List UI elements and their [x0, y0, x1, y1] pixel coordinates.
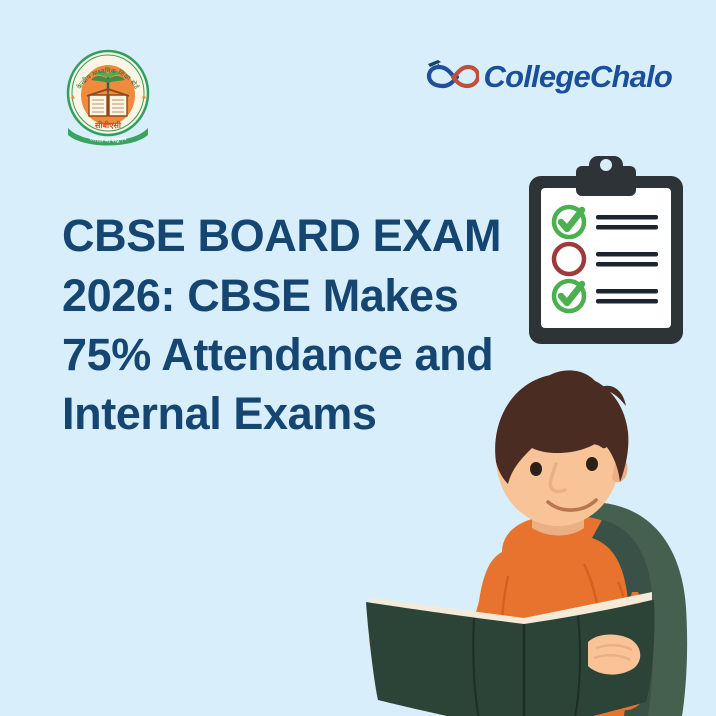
brand-name: CollegeChalo [484, 61, 672, 92]
svg-text:✷: ✷ [70, 94, 76, 102]
headline-line-2: 2026: CBSE Makes [62, 266, 532, 325]
collegechalo-logo[interactable]: CollegeChalo [423, 56, 672, 96]
cbse-emblem: केन्द्रीय माध्यमिक शिक्षा बोर्ड ✷ ✷ सीबी… [62, 48, 154, 148]
infinity-mark-icon [423, 56, 479, 96]
checklist-clipboard [521, 152, 691, 350]
svg-text:✷: ✷ [141, 94, 147, 102]
poster-canvas: केन्द्रीय माध्यमिक शिक्षा बोर्ड ✷ ✷ सीबी… [0, 0, 716, 716]
student-reading-illustration [352, 352, 716, 716]
svg-text:सीबीएसी: सीबीएसी [94, 120, 122, 130]
svg-text:असतो मा सद्गमय: असतो मा सद्गमय [89, 135, 128, 144]
headline-line-1: CBSE BOARD EXAM [62, 206, 532, 265]
